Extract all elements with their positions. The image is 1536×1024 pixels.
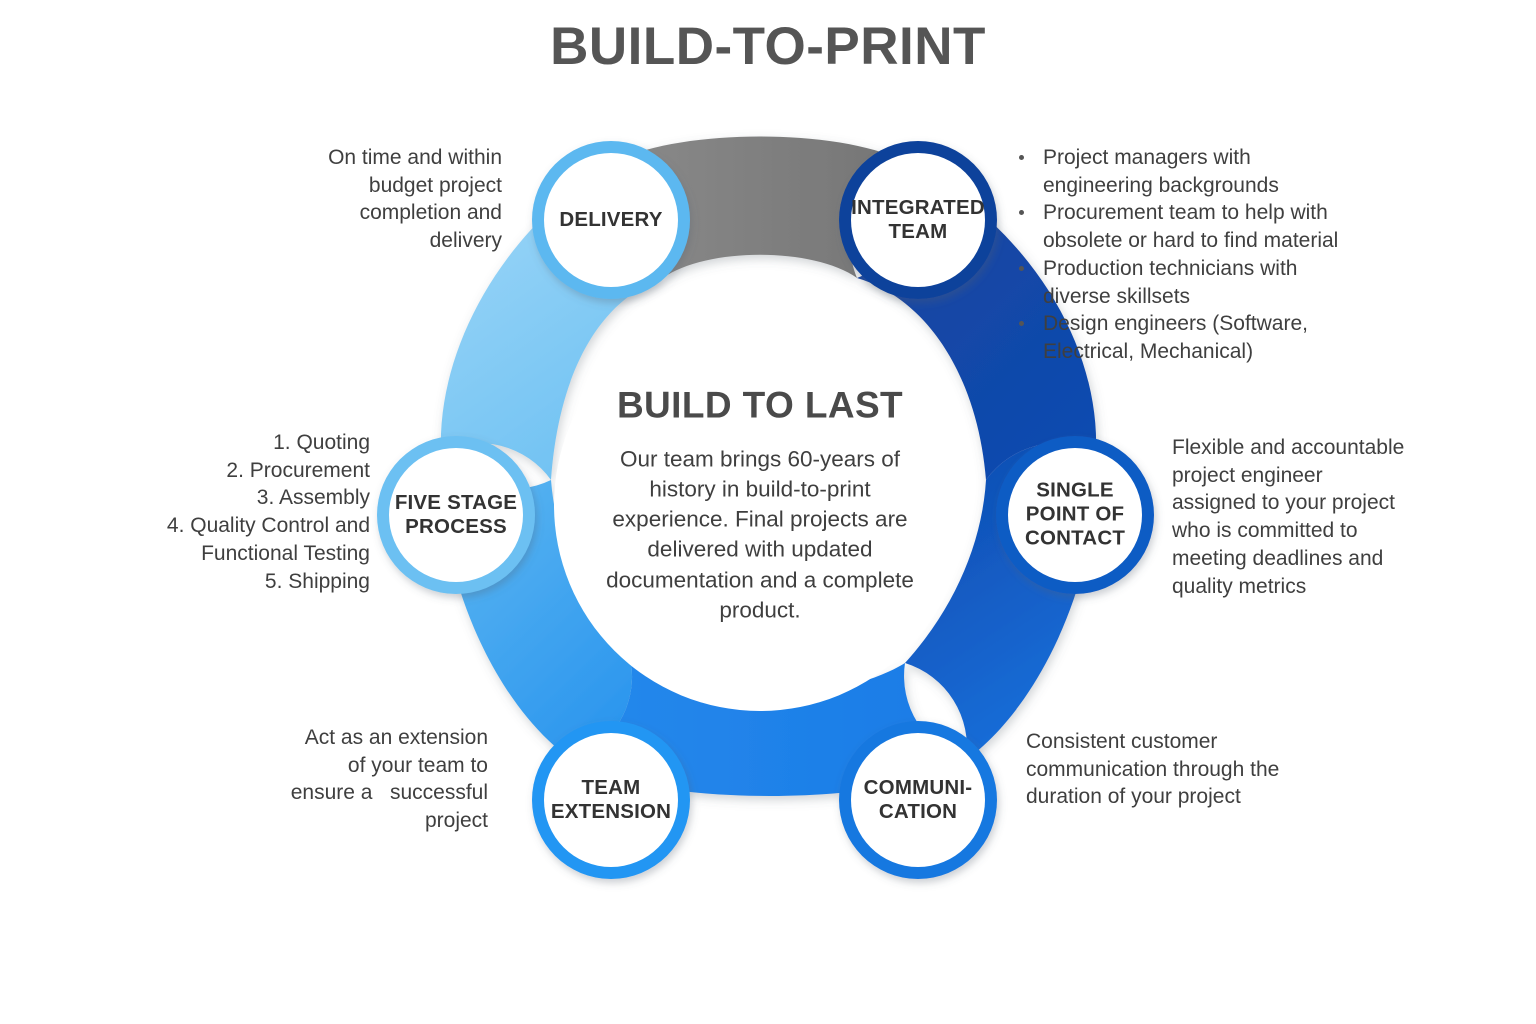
note-communication: Consistent customer communication throug…	[1026, 728, 1316, 811]
list-item: Project managers with engineering backgr…	[1013, 144, 1413, 199]
note-team-extension: Act as an extension of your team to ensu…	[268, 724, 488, 835]
note-line: delivery	[290, 227, 502, 255]
note-line: who is committed to	[1172, 517, 1422, 545]
note-line: project	[268, 807, 488, 835]
list-item: Procurement team to help with obsolete o…	[1013, 199, 1413, 254]
note-line: Electrical, Mechanical)	[1043, 338, 1413, 366]
note-line: Flexible and accountable	[1172, 434, 1422, 462]
integrated-team-bullet-list: Project managers with engineering backgr…	[1013, 144, 1413, 366]
integrated-team-node-face[interactable]	[851, 153, 985, 287]
note-line: budget project	[290, 172, 502, 200]
note-line: engineering backgrounds	[1043, 172, 1413, 200]
note-line: project engineer	[1172, 462, 1422, 490]
center-body-text: Our team brings 60-years of history in b…	[590, 445, 930, 626]
list-item: Production technicians with diverse skil…	[1013, 255, 1413, 310]
center-content: BUILD TO LAST Our team brings 60-years o…	[590, 385, 930, 626]
bullet-dot-icon	[1019, 321, 1024, 326]
note-line: Consistent customer	[1026, 728, 1316, 756]
five-stage-node-face[interactable]	[389, 448, 523, 582]
bullet-dot-icon	[1019, 155, 1024, 160]
note-line: meeting deadlines and	[1172, 545, 1422, 573]
note-line: 5. Shipping	[150, 568, 370, 596]
note-integrated-team: Project managers with engineering backgr…	[1013, 144, 1413, 366]
note-line: diverse skillsets	[1043, 283, 1413, 311]
delivery-node-face[interactable]	[544, 153, 678, 287]
team-extension-node-face[interactable]	[544, 733, 678, 867]
note-line: 4. Quality Control and	[150, 512, 370, 540]
single-point-node-face[interactable]	[1008, 448, 1142, 582]
note-line: assigned to your project	[1172, 489, 1422, 517]
note-line: 2. Procurement	[150, 457, 370, 485]
note-five-stage-process: 1. Quoting 2. Procurement 3. Assembly 4.…	[150, 429, 370, 595]
list-item: Design engineers (Software, Electrical, …	[1013, 310, 1413, 365]
note-delivery: On time and within budget project comple…	[290, 144, 502, 255]
center-heading: BUILD TO LAST	[590, 385, 930, 427]
note-line: of your team to	[268, 752, 488, 780]
note-line: Functional Testing	[150, 540, 370, 568]
note-line: completion and	[290, 199, 502, 227]
note-single-point-of-contact: Flexible and accountable project enginee…	[1172, 434, 1422, 600]
note-line: Procurement team to help with	[1043, 199, 1413, 227]
note-line: On time and within	[290, 144, 502, 172]
note-line: Design engineers (Software,	[1043, 310, 1413, 338]
note-line: communication through the	[1026, 756, 1316, 784]
note-line: 3. Assembly	[150, 484, 370, 512]
communication-node-face[interactable]	[851, 733, 985, 867]
bullet-dot-icon	[1019, 210, 1024, 215]
note-line: obsolete or hard to find material	[1043, 227, 1413, 255]
note-line: quality metrics	[1172, 573, 1422, 601]
bullet-dot-icon	[1019, 266, 1024, 271]
note-line: Production technicians with	[1043, 255, 1413, 283]
note-line: Project managers with	[1043, 144, 1413, 172]
circular-process-diagram: DELIVERY INTEGRATED TEAM SINGLE POINT OF…	[0, 0, 1536, 1024]
note-line: ensure a successful	[268, 779, 488, 807]
note-line: Act as an extension	[268, 724, 488, 752]
note-line: duration of your project	[1026, 783, 1316, 811]
note-line: 1. Quoting	[150, 429, 370, 457]
